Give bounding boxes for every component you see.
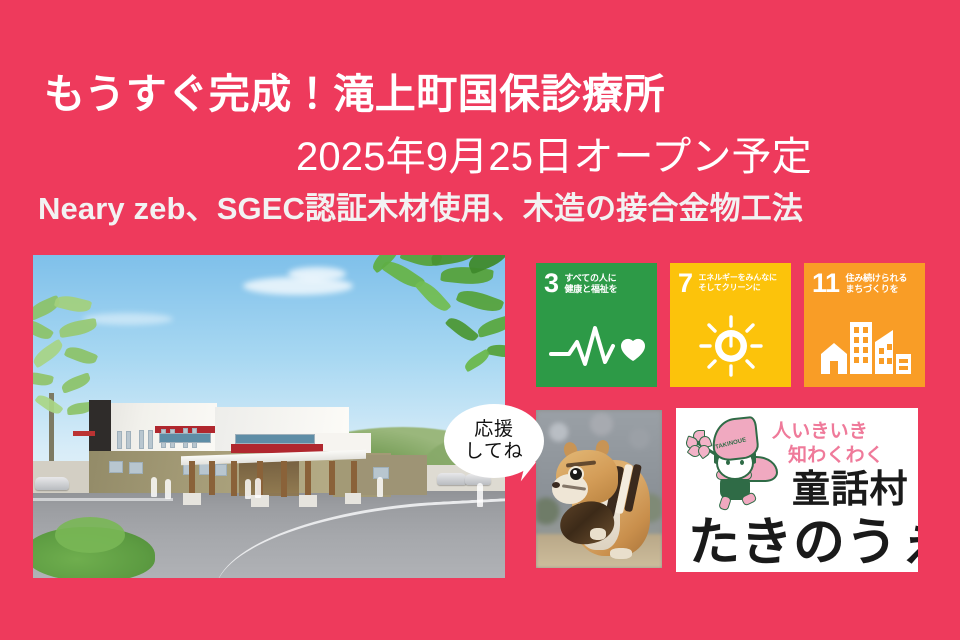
headline-line-3: Neary zeb、SGEC認証木材使用、木造の接合金物工法: [38, 183, 803, 228]
headline-line-2: 2025年9月25日オープン予定: [296, 124, 812, 182]
person-figure: [165, 479, 171, 499]
foliage-upper-right: [281, 255, 505, 395]
logo-main-2: たきのうぇ: [688, 500, 918, 572]
logo-tagline-1: 人いきいき: [772, 416, 868, 443]
car: [437, 473, 467, 485]
sdg-badge-11-line-2: まちづくりを: [845, 284, 907, 295]
sdg-badge-11[interactable]: 11 住み続けられる まちづくりを: [804, 263, 925, 387]
sdg-badge-11-line-1: 住み続けられる: [845, 273, 907, 284]
person-figure: [245, 479, 251, 499]
sdg-badge-3-line-2: 健康と福祉を: [564, 284, 617, 295]
chipmunk-paw: [610, 548, 632, 559]
chipmunk-photo: [536, 410, 662, 568]
sdg-badge-3-line-1: すべての人に: [564, 273, 617, 284]
takinoue-fairy-mascot: TAKINOUE: [686, 416, 784, 508]
sdg-badge-7-number: 7: [678, 271, 692, 296]
person-figure: [477, 483, 483, 507]
city-buildings-icon: [804, 313, 925, 379]
sdg-badge-3[interactable]: 3 すべての人に 健康と福祉を: [536, 263, 657, 387]
heartbeat-icon: [536, 313, 657, 379]
sdg-badge-7-line-1: エネルギーをみんなに: [698, 273, 776, 283]
speech-bubble-line-1: 応援: [474, 419, 514, 440]
headline-block: もうすぐ完成！滝上町国保診療所 2025年9月25日オープン予定 Neary z…: [0, 0, 960, 240]
speech-bubble-text: 応援 してね: [465, 419, 524, 464]
town-logo[interactable]: TAKINOUE 人いきいき 知わくわく 童話村 たきのうぇ: [676, 408, 918, 572]
bush: [55, 517, 125, 553]
person-figure: [377, 477, 383, 497]
headline-line-1: もうすぐ完成！滝上町国保診療所: [44, 60, 665, 120]
sdg-badge-3-number: 3: [544, 271, 558, 296]
sun-power-icon: [670, 313, 791, 379]
person-figure: [255, 478, 261, 498]
poster-root: もうすぐ完成！滝上町国保診療所 2025年9月25日オープン予定 Neary z…: [0, 0, 960, 640]
speech-bubble-line-2: してね: [465, 441, 524, 462]
building-right-wing: [353, 455, 427, 495]
sdg-badge-row: 3 すべての人に 健康と福祉を 7 エネルギーをみんなに そしてクリーンに: [536, 263, 926, 387]
chipmunk-eye: [570, 468, 582, 480]
person-figure: [151, 477, 157, 497]
chipmunk-nose: [552, 482, 560, 488]
sdg-badge-7[interactable]: 7 エネルギーをみんなに そしてクリーンに: [670, 263, 791, 387]
chipmunk-paw: [590, 528, 606, 540]
building-render-photo: [33, 255, 505, 578]
lot-marking-straight: [33, 498, 173, 501]
cherry-blossom-icon: [686, 430, 712, 456]
roof-accent-red: [73, 431, 95, 436]
sdg-badge-7-line-2: そしてクリーンに: [698, 283, 776, 293]
speech-bubble: 応援 してね: [444, 404, 544, 478]
car: [35, 477, 69, 490]
sdg-badge-11-number: 11: [812, 271, 839, 296]
